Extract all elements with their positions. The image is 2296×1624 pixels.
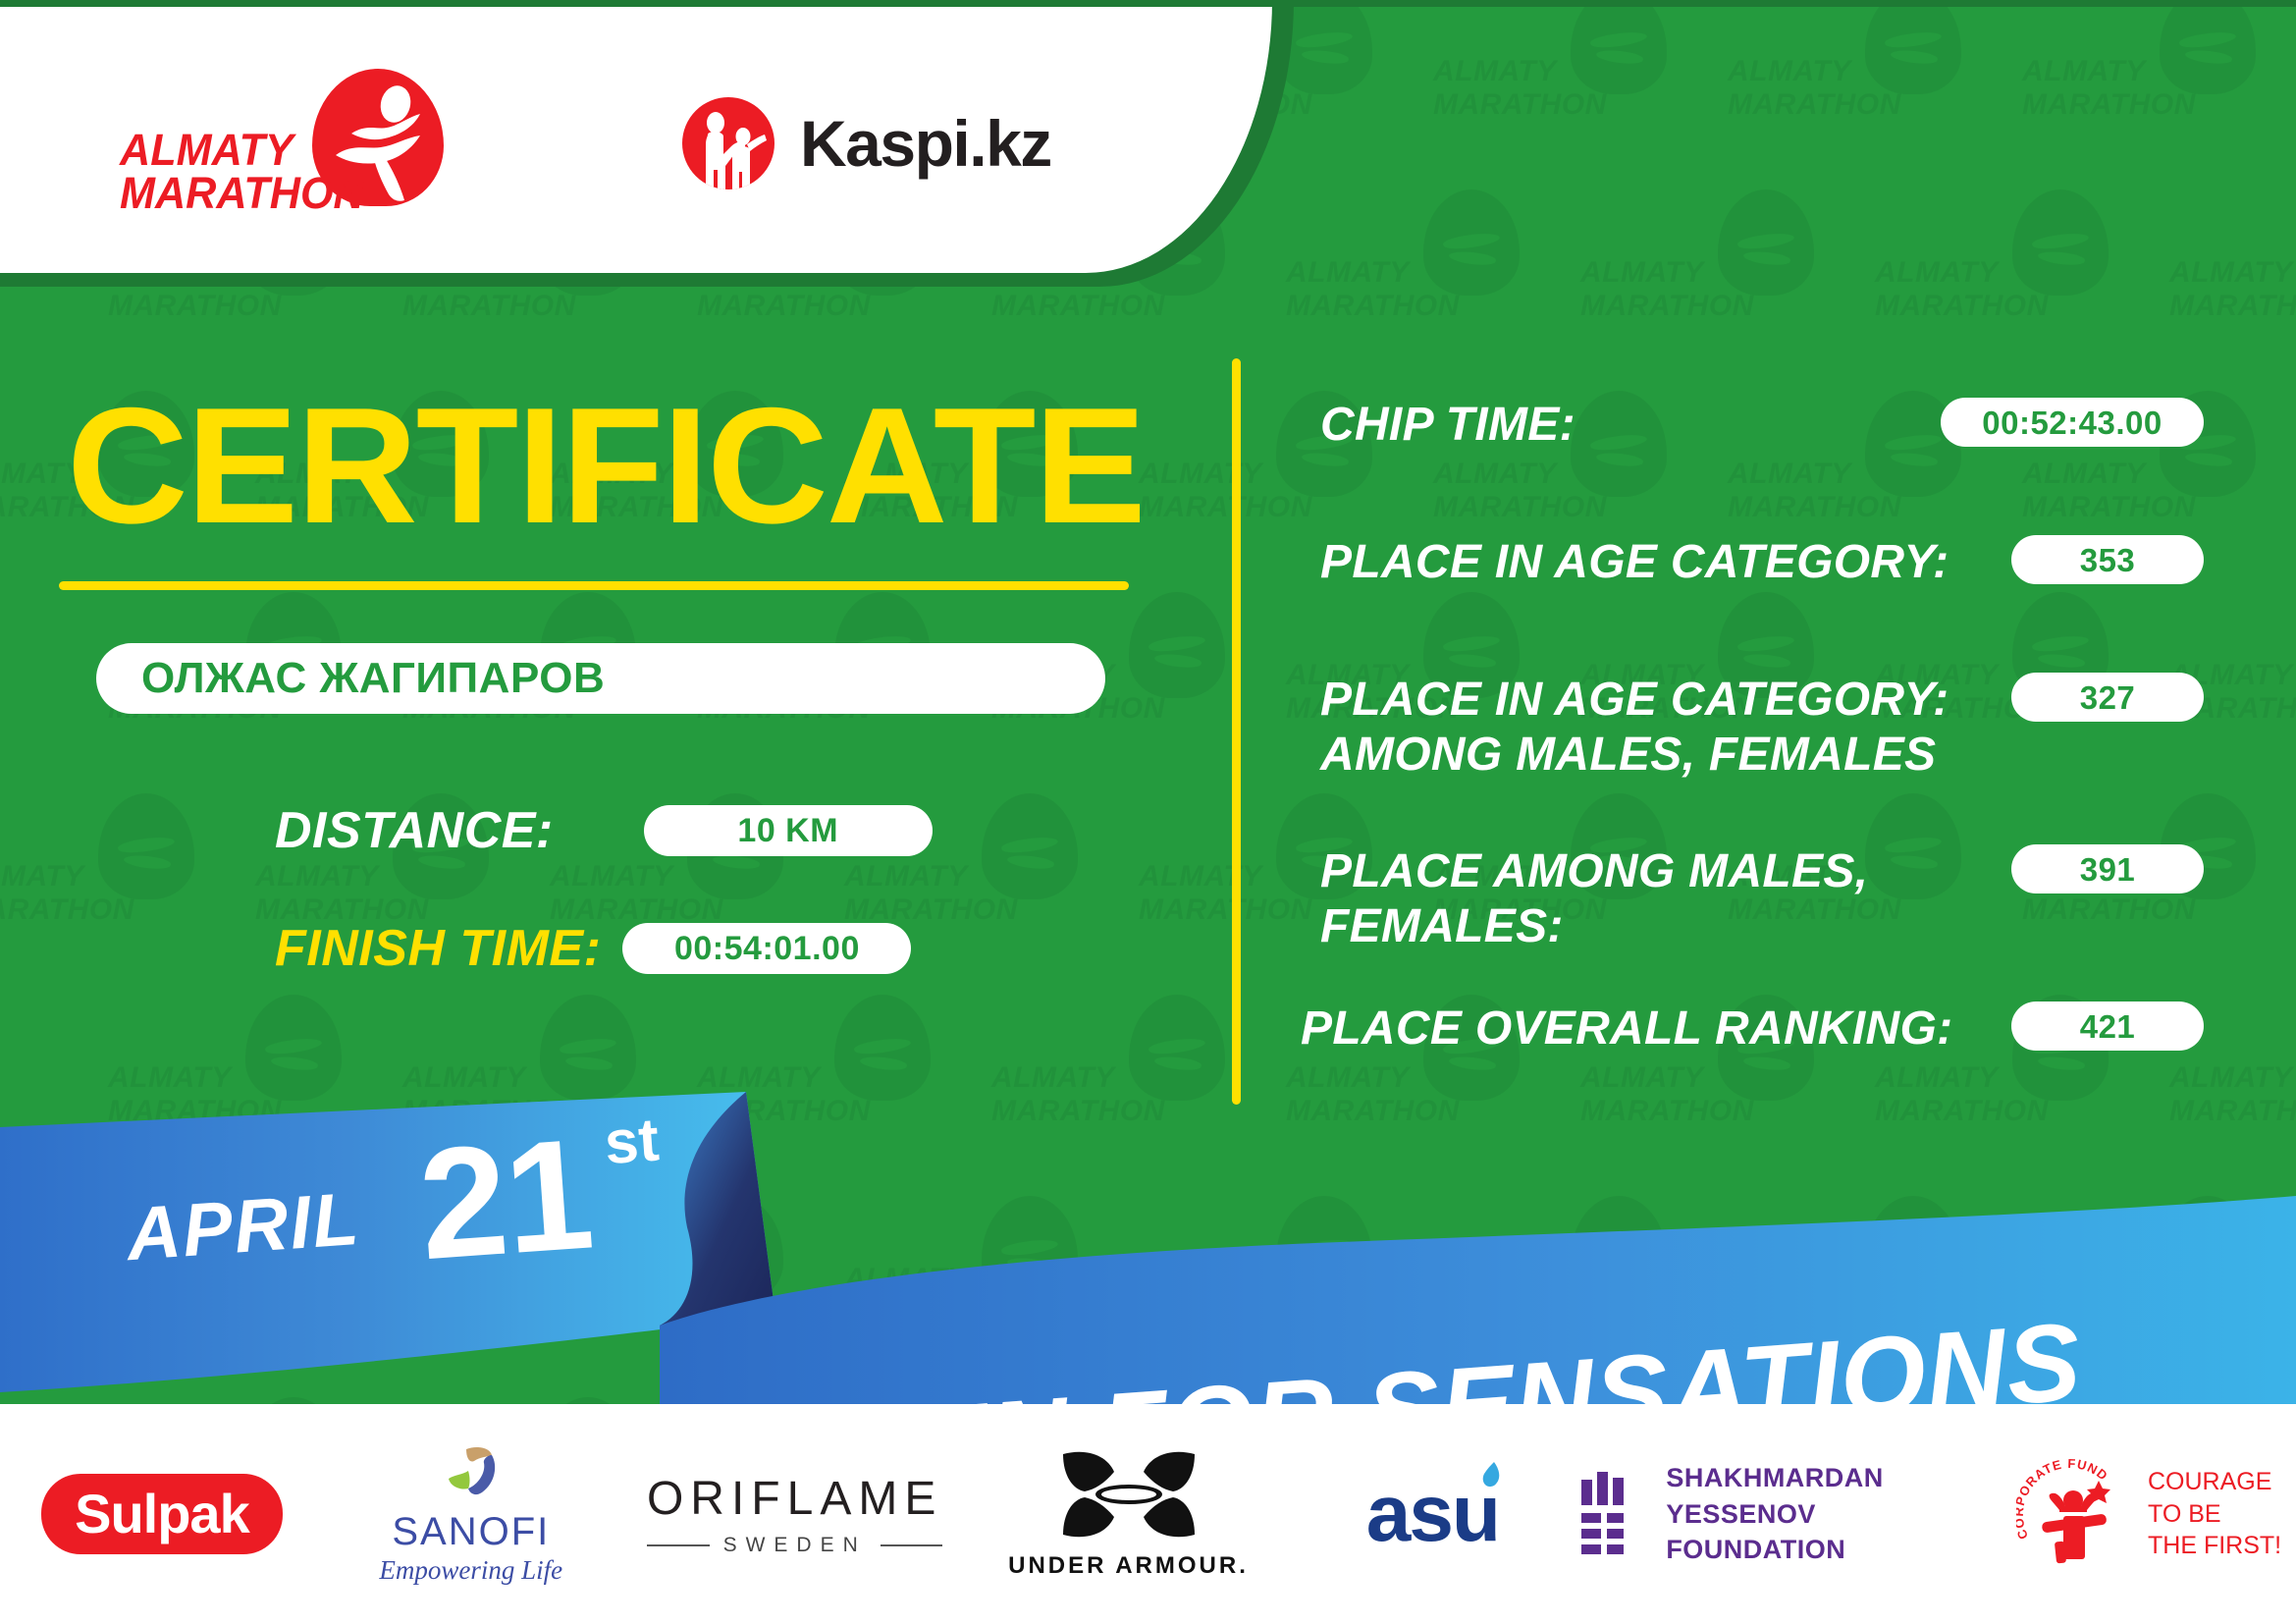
place-age-category-gender-value: 327	[2011, 673, 2204, 722]
watermark-tile: ALMATYMARATHON	[1875, 182, 2169, 383]
watermark-line2: MARATHON	[1139, 895, 1312, 925]
watermark-line2: MARATHON	[2169, 292, 2296, 321]
sulpak-logo-text: Sulpak	[41, 1474, 283, 1554]
corporate-fund-icon: CORPORATE FUND	[2016, 1455, 2134, 1573]
place-overall-label: PLACE OVERALL RANKING:	[1301, 1001, 1952, 1056]
sponsor-oriflame: ORIFLAME SWEDEN	[618, 1440, 972, 1588]
place-age-category-value: 353	[2011, 535, 2204, 584]
kaspi-logo-text: Kaspi.kz	[800, 111, 1051, 176]
watermark-line2: MARATHON	[1875, 292, 2049, 321]
sponsor-bar: Sulpak SANOFI Empowering Life ORIFLAME	[0, 1404, 2296, 1624]
distance-label: DISTANCE:	[275, 805, 554, 856]
kaspi-logo: Kaspi.kz	[682, 96, 1051, 189]
corporate-fund-line3: THE FIRST!	[2148, 1530, 2281, 1562]
watermark-line1: ALMATY	[1139, 460, 1262, 489]
watermark-drop-icon	[1571, 0, 1667, 94]
watermark-line2: MARATHON	[2022, 493, 2196, 522]
sponsor-asu: asu	[1285, 1440, 1579, 1588]
watermark-line1: ALMATY	[1728, 57, 1851, 86]
yessenov-logo-line1: SHAKHMARDAN YESSENOV	[1666, 1460, 2002, 1532]
watermark-tile: ALMATYMARATHON	[1580, 182, 1875, 383]
page-title: CERTIFICATE	[67, 383, 1145, 548]
watermark-line1: ALMATY	[0, 862, 84, 892]
watermark-line2: MARATHON	[1286, 292, 1460, 321]
place-among-gender-label-line1: PLACE AMONG MALES,	[1320, 845, 1868, 897]
watermark-line1: ALMATY	[1286, 258, 1410, 288]
watermark-drop-icon	[1129, 592, 1225, 698]
watermark-tile: ALMATYMARATHON	[1433, 0, 1728, 182]
ribbon-day: 21	[414, 1106, 597, 1293]
watermark-line2: MARATHON	[1139, 493, 1312, 522]
watermark-line2: MARATHON	[2022, 90, 2196, 120]
watermark-line2: MARATHON	[1433, 90, 1607, 120]
yessenov-logo-line2: FOUNDATION	[1666, 1532, 2002, 1567]
asu-drop-icon	[1472, 1460, 1506, 1493]
watermark-line2: MARATHON	[1433, 493, 1607, 522]
watermark-line1: ALMATY	[2169, 258, 2293, 288]
watermark-line2: MARATHON	[0, 895, 134, 925]
sponsor-under-armour: UNDER ARMOUR.	[972, 1440, 1286, 1588]
watermark-tile: ALMATYMARATHON	[2022, 0, 2296, 182]
place-age-category-label: PLACE IN AGE CATEGORY:	[1320, 535, 1949, 590]
participant-name-value: ОЛЖАС ЖАГИПАРОВ	[141, 657, 605, 700]
column-divider	[1232, 358, 1241, 1105]
title-underline-rule	[59, 581, 1129, 590]
stat-row-place-overall: PLACE OVERALL RANKING: 421	[1301, 1001, 2204, 1056]
watermark-drop-icon	[1865, 0, 1961, 94]
watermark-line1: ALMATY	[1433, 57, 1557, 86]
finish-time-label: FINISH TIME:	[275, 923, 601, 974]
watermark-line2: MARATHON	[108, 292, 282, 321]
place-among-gender-label-line2: FEMALES:	[1320, 900, 1564, 952]
sanofi-tagline: Empowering Life	[379, 1557, 562, 1584]
ribbon-ordinal: st	[603, 1106, 662, 1177]
top-green-rule	[0, 0, 2296, 7]
corporate-fund-line1: COURAGE	[2148, 1466, 2281, 1498]
watermark-line2: MARATHON	[1728, 493, 1901, 522]
stat-row-distance: DISTANCE: 10 KM	[275, 805, 933, 856]
oriflame-rule-left	[647, 1544, 710, 1546]
place-age-category-gender-label: PLACE IN AGE CATEGORY:AMONG MALES, FEMAL…	[1320, 673, 1949, 782]
watermark-tile: ALMATYMARATHON	[1728, 0, 2022, 182]
watermark-drop-icon	[1423, 189, 1520, 296]
stat-row-chip-time: CHIP TIME: 00:52:43.00	[1320, 398, 2204, 453]
finish-time-value: 00:54:01.00	[622, 923, 911, 974]
watermark-line2: MARATHON	[1580, 292, 1754, 321]
sponsor-sanofi: SANOFI Empowering Life	[324, 1440, 618, 1588]
place-overall-value: 421	[2011, 1001, 2204, 1051]
chip-time-label: CHIP TIME:	[1320, 398, 1575, 453]
watermark-drop-icon	[2012, 189, 2109, 296]
watermark-line2: MARATHON	[1728, 90, 1901, 120]
watermark-line1: ALMATY	[1139, 862, 1262, 892]
participant-name-field: ОЛЖАС ЖАГИПАРОВ	[96, 643, 1105, 714]
place-age-category-gender-label-line1: PLACE IN AGE CATEGORY:	[1320, 674, 1949, 726]
watermark-drop-icon	[1718, 189, 1814, 296]
kaspi-people-icon	[682, 97, 774, 189]
under-armour-logo-text: UNDER ARMOUR.	[1008, 1552, 1249, 1580]
under-armour-icon	[1055, 1448, 1202, 1543]
watermark-tile: ALMATYMARATHON	[1286, 182, 1580, 383]
place-among-gender-value: 391	[2011, 844, 2204, 893]
yessenov-mark-icon	[1579, 1472, 1640, 1556]
stat-row-finish-time: FINISH TIME: 00:54:01.00	[275, 923, 911, 974]
watermark-line1: ALMATY	[844, 862, 968, 892]
watermark-drop-icon	[2160, 0, 2256, 94]
ribbon-month: APRIL	[122, 1177, 362, 1277]
sponsor-corporate-fund: CORPORATE FUND COURAGE TO BE THE FIRST!	[2002, 1440, 2296, 1588]
watermark-line1: ALMATY	[1875, 258, 1999, 288]
place-age-category-gender-label-line2: AMONG MALES, FEMALES	[1320, 729, 1936, 781]
watermark-line2: MARATHON	[697, 292, 871, 321]
sponsor-yessenov-foundation: SHAKHMARDAN YESSENOV FOUNDATION	[1579, 1440, 2002, 1588]
watermark-line1: ALMATY	[2022, 460, 2146, 489]
watermark-line1: ALMATY	[1580, 258, 1704, 288]
watermark-line1: ALMATY	[1433, 460, 1557, 489]
sponsor-sulpak: Sulpak	[0, 1440, 324, 1588]
chip-time-value: 00:52:43.00	[1941, 398, 2204, 447]
sanofi-mark-icon	[437, 1445, 506, 1506]
watermark-drop-icon	[98, 793, 194, 899]
watermark-tile: ALMATYMARATHON	[0, 785, 255, 987]
oriflame-rule-right	[881, 1544, 943, 1546]
watermark-line1: ALMATY	[550, 862, 673, 892]
watermark-line1: ALMATY	[2022, 57, 2146, 86]
oriflame-logo-text: ORIFLAME	[647, 1472, 942, 1526]
stat-row-place-among-gender: PLACE AMONG MALES,FEMALES: 391	[1320, 844, 2204, 953]
distance-value: 10 KM	[644, 805, 933, 856]
stat-row-place-age-category-gender: PLACE IN AGE CATEGORY:AMONG MALES, FEMAL…	[1320, 673, 2204, 782]
place-among-gender-label: PLACE AMONG MALES,FEMALES:	[1320, 844, 1868, 953]
certificate-page: ALMATYMARATHONALMATYMARATHONALMATYMARATH…	[0, 0, 2296, 1624]
watermark-line1: ALMATY	[1728, 460, 1851, 489]
watermark-line1: ALMATY	[255, 862, 379, 892]
almaty-marathon-logo: ALMATY MARATHON	[120, 69, 444, 201]
watermark-drop-icon	[982, 793, 1078, 899]
almaty-marathon-logo-line1: ALMATY	[120, 128, 294, 172]
oriflame-sub-text: SWEDEN	[723, 1534, 867, 1557]
corporate-fund-line2: TO BE	[2148, 1498, 2281, 1531]
almaty-marathon-logo-line2: MARATHON	[120, 171, 364, 215]
watermark-line2: MARATHON	[402, 292, 576, 321]
watermark-tile: ALMATYMARATHON	[2169, 182, 2296, 383]
stat-row-place-age-category: PLACE IN AGE CATEGORY: 353	[1320, 535, 2204, 590]
sanofi-logo-text: SANOFI	[392, 1512, 550, 1551]
watermark-line2: MARATHON	[844, 895, 1018, 925]
watermark-line2: MARATHON	[991, 292, 1165, 321]
